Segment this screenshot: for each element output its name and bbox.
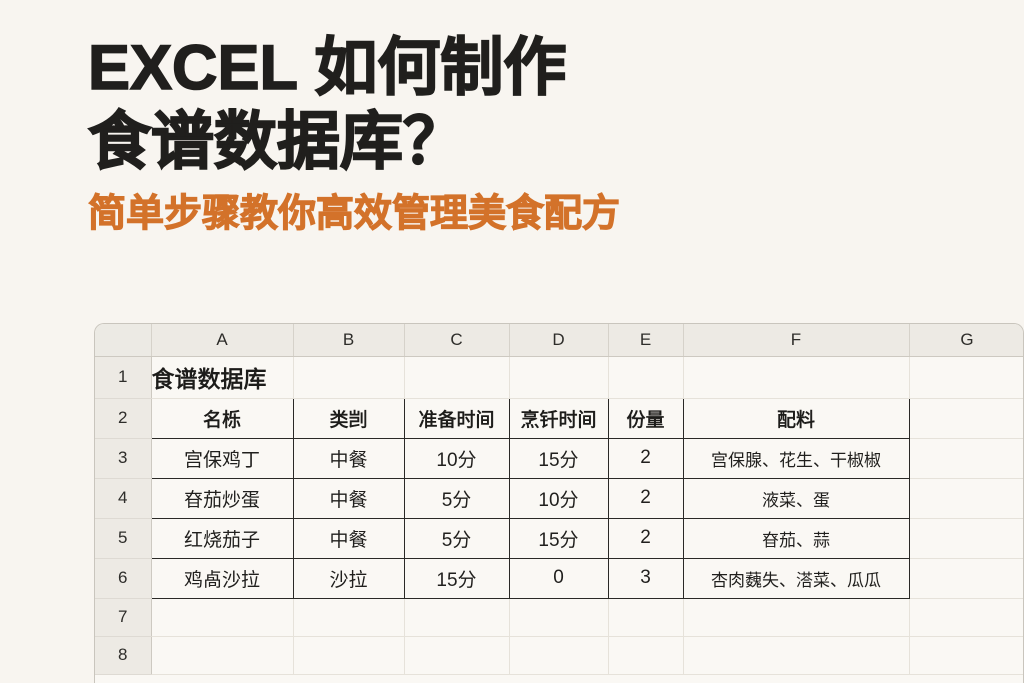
cell-f1[interactable] [608, 356, 683, 398]
cell-ingredients[interactable]: 液菜、蛋 [683, 478, 909, 518]
column-header-e[interactable]: E [608, 324, 683, 356]
cell-f8[interactable] [608, 636, 683, 674]
table-header-ingredients[interactable]: 配料 [683, 398, 909, 438]
cell-prep-time[interactable]: 10分 [404, 438, 509, 478]
cell-prep-time[interactable]: 5分 [404, 478, 509, 518]
cell-h5[interactable] [909, 518, 1024, 558]
cell-ingredients[interactable]: 宫保腺、花生、干椒椒 [683, 438, 909, 478]
cell-category[interactable]: 中餐 [293, 438, 404, 478]
table-row: 6 鸡卨沙拉 沙拉 15分 0 3 杏肉蘶失、溚菜、瓜瓜 [95, 558, 1024, 598]
cell-servings[interactable]: 2 [608, 518, 683, 558]
cell-h4[interactable] [909, 478, 1024, 518]
table-row: 4 昚茄炒蛋 中餐 5分 10分 2 液菜、蛋 [95, 478, 1024, 518]
cell-name[interactable]: 红烧茄子 [151, 518, 293, 558]
cell-h2[interactable] [909, 398, 1024, 438]
cell-c8[interactable] [293, 636, 404, 674]
cell-h6[interactable] [909, 558, 1024, 598]
column-header-c[interactable]: C [404, 324, 509, 356]
poster-subtitle: 简单步骤教你高效管理美食配方 [88, 192, 968, 236]
row-header-1[interactable]: 1 [95, 356, 151, 398]
cell-name[interactable]: 鸡卨沙拉 [151, 558, 293, 598]
cell-servings[interactable]: 3 [608, 558, 683, 598]
sheet-row-8: 8 [95, 636, 1024, 674]
sheet-row-7: 7 [95, 598, 1024, 636]
row-header-8[interactable]: 8 [95, 636, 151, 674]
title-line-1: EXCEL 如何制作 [88, 34, 968, 102]
table-header-prep-time[interactable]: 准备时间 [404, 398, 509, 438]
cell-h3[interactable] [909, 438, 1024, 478]
cell-prep-time[interactable]: 15分 [404, 558, 509, 598]
cell-b7[interactable] [151, 598, 293, 636]
cell-e8[interactable] [509, 636, 608, 674]
cell-e7[interactable] [509, 598, 608, 636]
title-line-2: 食谱数据库？ [88, 108, 968, 176]
cell-g7[interactable] [683, 598, 909, 636]
table-row: 5 红烧茄子 中餐 5分 15分 2 昚茄、蒜 [95, 518, 1024, 558]
cell-d7[interactable] [404, 598, 509, 636]
cell-h1[interactable] [909, 356, 1024, 398]
cell-g1[interactable] [683, 356, 909, 398]
cell-prep-time[interactable]: 5分 [404, 518, 509, 558]
cell-servings[interactable]: 2 [608, 478, 683, 518]
sheet-row-1: 1 食谱数据库 [95, 356, 1024, 398]
row-header-3[interactable]: 3 [95, 438, 151, 478]
cell-c1[interactable] [293, 356, 404, 398]
cell-h7[interactable] [909, 598, 1024, 636]
cell-cook-time[interactable]: 0 [509, 558, 608, 598]
cell-category[interactable]: 沙拉 [293, 558, 404, 598]
cell-cook-time[interactable]: 10分 [509, 478, 608, 518]
table-header-cook-time[interactable]: 烹钎时间 [509, 398, 608, 438]
cell-ingredients[interactable]: 昚茄、蒜 [683, 518, 909, 558]
cell-h8[interactable] [909, 636, 1024, 674]
column-header-row: A B C D E F G [95, 324, 1024, 356]
column-header-g[interactable]: G [909, 324, 1024, 356]
table-header-category[interactable]: 类剀 [293, 398, 404, 438]
cell-cook-time[interactable]: 15分 [509, 518, 608, 558]
column-header-f[interactable]: F [683, 324, 909, 356]
row-header-4[interactable]: 4 [95, 478, 151, 518]
row-header-5[interactable]: 5 [95, 518, 151, 558]
cell-category[interactable]: 中餐 [293, 518, 404, 558]
cell-e1[interactable] [509, 356, 608, 398]
sheet-title-cell[interactable]: 食谱数据库 [151, 356, 293, 398]
column-header-d[interactable]: D [509, 324, 608, 356]
cell-g8[interactable] [683, 636, 909, 674]
cell-f7[interactable] [608, 598, 683, 636]
row-header-2[interactable]: 2 [95, 398, 151, 438]
column-header-a[interactable]: A [151, 324, 293, 356]
grid-corner[interactable] [95, 324, 151, 356]
cell-name[interactable]: 宫保鸡丁 [151, 438, 293, 478]
table-header-servings[interactable]: 份量 [608, 398, 683, 438]
spreadsheet-grid: A B C D E F G 1 食谱数据库 2 名栎 类剀 准备时间 烹钎时间 … [95, 324, 1024, 675]
cell-category[interactable]: 中餐 [293, 478, 404, 518]
cell-name[interactable]: 昚茄炒蛋 [151, 478, 293, 518]
row-header-7[interactable]: 7 [95, 598, 151, 636]
poster-headline: EXCEL 如何制作 食谱数据库？ 简单步骤教你高效管理美食配方 [88, 34, 968, 236]
row-header-6[interactable]: 6 [95, 558, 151, 598]
cell-cook-time[interactable]: 15分 [509, 438, 608, 478]
cell-d1[interactable] [404, 356, 509, 398]
cell-c7[interactable] [293, 598, 404, 636]
table-header-name[interactable]: 名栎 [151, 398, 293, 438]
cell-d8[interactable] [404, 636, 509, 674]
column-header-b[interactable]: B [293, 324, 404, 356]
cell-ingredients[interactable]: 杏肉蘶失、溚菜、瓜瓜 [683, 558, 909, 598]
cell-b8[interactable] [151, 636, 293, 674]
cell-servings[interactable]: 2 [608, 438, 683, 478]
spreadsheet-panel: A B C D E F G 1 食谱数据库 2 名栎 类剀 准备时间 烹钎时间 … [94, 323, 1024, 683]
table-row: 3 宫保鸡丁 中餐 10分 15分 2 宫保腺、花生、干椒椒 [95, 438, 1024, 478]
sheet-row-2: 2 名栎 类剀 准备时间 烹钎时间 份量 配料 [95, 398, 1024, 438]
